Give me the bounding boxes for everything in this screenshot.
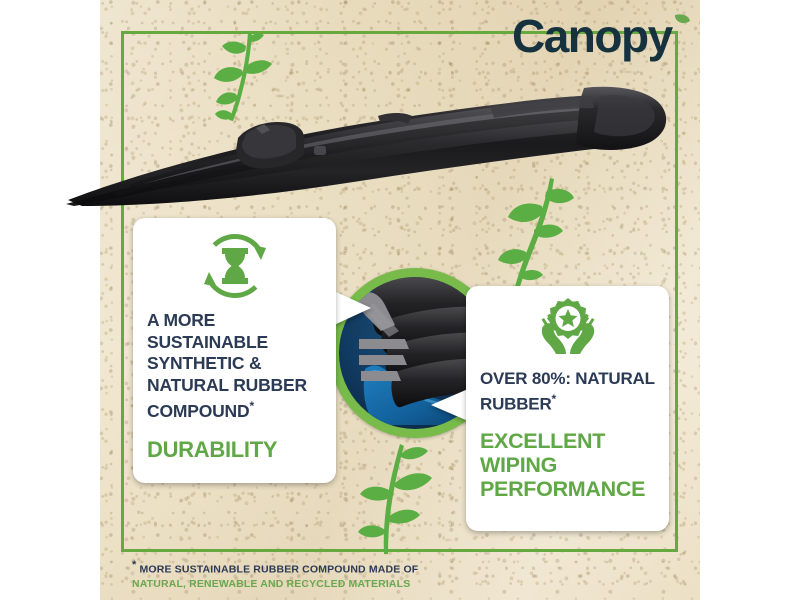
footnote-line-1: * MORE SUSTAINABLE RUBBER COMPOUND MADE …: [132, 558, 552, 577]
hands-holding-quality-badge-icon: [528, 296, 608, 358]
card-headline: A MORE SUSTAINABLE SYNTHETIC & NATURAL R…: [147, 310, 322, 422]
leaf-icon: [675, 14, 690, 23]
card-subline: EXCELLENT WIPING PERFORMANCE: [480, 429, 655, 501]
wiper-blade-image: [60, 72, 680, 207]
card-durability: A MORE SUSTAINABLE SYNTHETIC & NATURAL R…: [133, 218, 336, 483]
asterisk: *: [249, 399, 253, 413]
card-headline: OVER 80%: NATURAL RUBBER*: [480, 368, 655, 415]
right-card-pointer: [431, 389, 468, 421]
card-wiping-performance: OVER 80%: NATURAL RUBBER* EXCELLENT WIPI…: [466, 286, 669, 531]
left-card-pointer: [334, 291, 371, 325]
canopy-logo: Canopy: [512, 12, 692, 66]
footnote-marker: *: [132, 559, 136, 571]
footnote: * MORE SUSTAINABLE RUBBER COMPOUND MADE …: [132, 558, 552, 592]
footnote-line-2: NATURAL, RENEWABLE AND RECYCLED MATERIAL…: [132, 577, 552, 592]
card-subline: DURABILITY: [147, 438, 322, 463]
product-infographic: Canopy: [0, 0, 800, 600]
svg-text:Canopy: Canopy: [512, 12, 674, 62]
vine-bottom-center-icon: [340, 432, 450, 557]
hourglass-recycle-icon: [198, 230, 272, 302]
asterisk: *: [552, 392, 556, 406]
